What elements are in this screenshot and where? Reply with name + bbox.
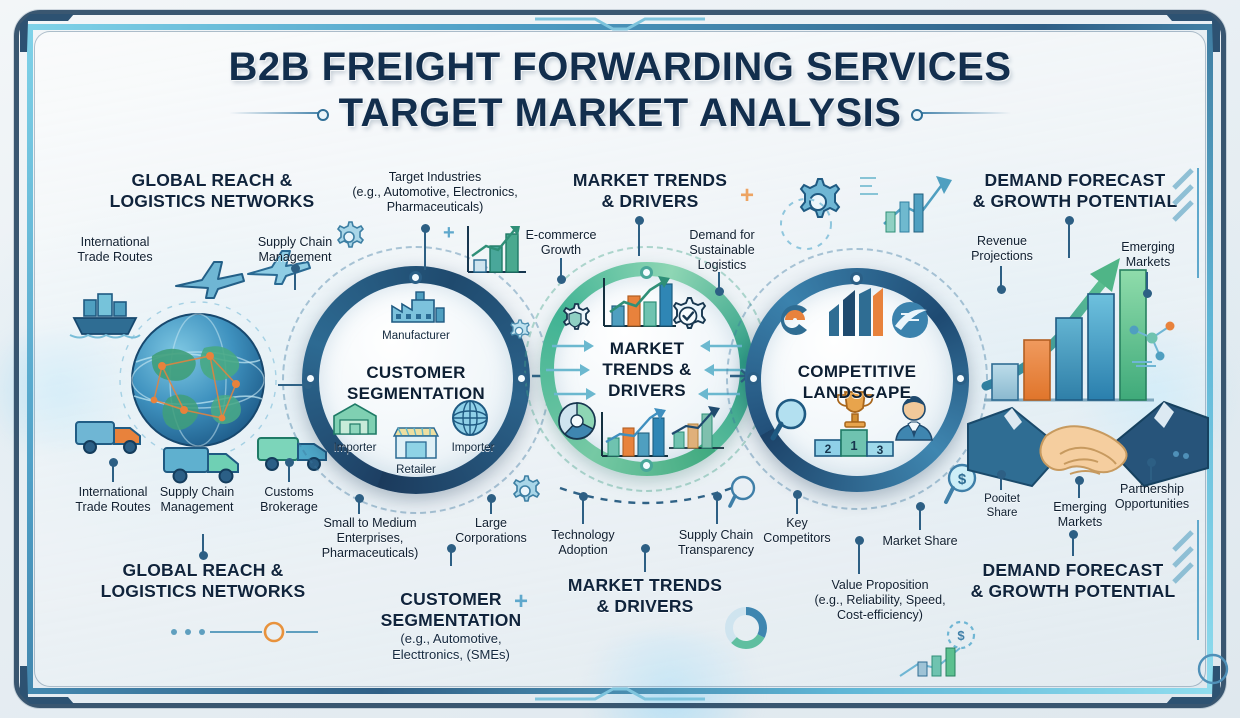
- ring3-node-left: [747, 372, 760, 385]
- svg-text:$: $: [957, 628, 965, 643]
- delivery-truck-icon-mid: [160, 440, 246, 486]
- cargo-ship-icon: [68, 286, 142, 340]
- label-target-industries: Target Industries (e.g., Automotive, Ele…: [336, 170, 534, 215]
- title-rule-left: [229, 112, 325, 114]
- plus-spark-icon-cs-top: +: [443, 222, 455, 245]
- stem-demand-forecast-bottom: [1072, 534, 1074, 556]
- stem-revenue-projections: [1000, 266, 1002, 290]
- ring3-node-top: [850, 272, 863, 285]
- stem-market-share: [919, 506, 921, 530]
- label-manufacturer: Manufacturer: [302, 330, 530, 342]
- label-emerging-markets-top: Emerging Markets: [1098, 240, 1198, 270]
- section-heading-global-reach-bottom: GLOBAL REACH & LOGISTICS NETWORKS: [78, 560, 328, 602]
- label-revenue-projections: Revenue Projections: [950, 234, 1054, 264]
- ring2-node-bottom: [640, 459, 653, 472]
- stem-customs-brokerage: [288, 462, 290, 482]
- demand-forecast-bar-chart: [978, 250, 1178, 450]
- section-heading-market-trends-top: MARKET TRENDS & DRIVERS: [530, 170, 770, 212]
- stem-key-competitors: [796, 494, 798, 514]
- stem-partnership-opportunities: [1150, 462, 1152, 480]
- label-supply-chain-management-bottom: Supply Chain Management: [142, 485, 252, 515]
- corner-accent-bottom-left: [16, 664, 78, 706]
- label-international-trade-routes-top: International Trade Routes: [60, 235, 170, 265]
- magnifier-icon-below-cl: [728, 474, 762, 510]
- label-technology-adoption: Technology Adoption: [530, 528, 636, 558]
- stem-df-heading-top: [1068, 220, 1070, 258]
- customer-segmentation-bottom-subtitle: (e.g., Automotive, Electtronics, (SMEs): [332, 631, 570, 663]
- label-small-to-medium-enterprises: Small to Medium Enterprises, Pharmaceuti…: [310, 516, 430, 561]
- title-block: B2B FREIGHT FORWARDING SERVICES TARGET M…: [0, 44, 1240, 136]
- circuit-trace-bottom-left: [170, 618, 320, 648]
- section-heading-market-trends-bottom: MARKET TRENDS & DRIVERS: [540, 575, 750, 617]
- infographic-canvas: B2B FREIGHT FORWARDING SERVICES TARGET M…: [0, 0, 1240, 718]
- page-title-line2: TARGET MARKET ANALYSIS: [339, 90, 902, 136]
- section-heading-demand-forecast-top: DEMAND FORECAST & GROWTH POTENTIAL: [950, 170, 1200, 212]
- glow-bottom-center: [560, 632, 780, 718]
- title-rule-right: [915, 112, 1011, 114]
- ring-customer-segmentation[interactable]: Manufacturer CUSTOMER SEGMENTATION Impor…: [302, 266, 530, 494]
- stem-smes: [358, 498, 360, 514]
- section-heading-global-reach-top: GLOBAL REACH & LOGISTICS NETWORKS: [92, 170, 332, 212]
- stem-market-trends-bottom: [644, 548, 646, 572]
- airplane-icon-upper: [170, 256, 250, 302]
- delivery-truck-icon-left: [72, 412, 148, 456]
- stem-value-proposition: [858, 540, 860, 574]
- stem-global-reach-bottom: [202, 534, 204, 556]
- gear-icon-cs-bottomleft: [508, 474, 542, 508]
- ring2-node-top: [640, 266, 653, 279]
- stem-target-industries: [424, 228, 426, 270]
- stem-trade-routes-bottom: [112, 462, 114, 482]
- compass-icon-bottom-right: [1196, 652, 1230, 686]
- dashed-arc-under-ring2: [556, 484, 736, 514]
- dashed-circle-icon-topright: [778, 196, 834, 252]
- stem-customer-segmentation-bottom: [450, 548, 452, 566]
- ring1-label: CUSTOMER SEGMENTATION: [347, 362, 485, 404]
- customer-segmentation-bottom-title: CUSTOMER SEGMENTATION: [381, 589, 522, 630]
- label-pooitet-share: Pooitet Share: [960, 492, 1044, 520]
- label-importer-left: Importer: [322, 442, 388, 454]
- label-key-competitors: Key Competitors: [748, 516, 846, 546]
- ring3-label: COMPETITIVE LANDSCAPE: [798, 361, 917, 403]
- ring-market-trends[interactable]: MARKET TRENDS & DRIVERS: [540, 262, 754, 476]
- ring1-node-top: [409, 271, 422, 284]
- stem-pooitet-share: [1000, 474, 1002, 490]
- frame-notch-bottom: [535, 686, 705, 702]
- corner-accent-bottom-right: [1162, 664, 1224, 706]
- label-demand-sustainable-logistics: Demand for Sustainable Logistics: [668, 228, 776, 273]
- label-retailer: Retailer: [378, 464, 454, 476]
- stem-technology-adoption: [582, 496, 584, 524]
- gear-icon-mt-top-right: [792, 176, 844, 228]
- stem-emerging-markets-bottom: [1078, 480, 1080, 498]
- globe-network-icon: [118, 300, 278, 460]
- plus-spark-icon-df: +: [1022, 468, 1035, 494]
- ring2-label: MARKET TRENDS & DRIVERS: [602, 338, 691, 401]
- ring1-node-left: [304, 372, 317, 385]
- label-value-proposition: Value Proposition (e.g., Reliability, Sp…: [780, 578, 980, 623]
- stem-large-corporations: [490, 498, 492, 514]
- label-customs-brokerage: Customs Brokerage: [238, 485, 340, 515]
- stem-mt-heading-top: [638, 220, 640, 256]
- mini-bar-chart-bottom-right: [898, 640, 978, 680]
- frame-notch-top: [535, 16, 705, 32]
- glow-right: [1060, 330, 1240, 460]
- ring3-node-right: [954, 372, 967, 385]
- handshake-icon: [968, 378, 1208, 498]
- glow-left: [0, 330, 150, 450]
- stem-ecommerce-growth: [560, 258, 562, 280]
- label-ecommerce-growth: E-commerce Growth: [508, 228, 614, 258]
- label-supply-chain-management-top: Supply Chain Management: [240, 235, 350, 265]
- network-nodes-icon-right: [1126, 316, 1180, 368]
- stem-supply-chain-transparency: [716, 496, 718, 524]
- stem-emerging-markets-top: [1146, 272, 1148, 294]
- label-partnership-opportunities: Partnership Opportunities: [1098, 482, 1206, 512]
- dollar-circle-icon-bottom: $: [944, 618, 978, 652]
- label-importer-right: Importer: [440, 442, 506, 454]
- ring1-node-right: [515, 372, 528, 385]
- section-heading-customer-segmentation-bottom: CUSTOMER SEGMENTATION (e.g., Automotive,…: [332, 568, 570, 684]
- label-market-share: Market Share: [866, 534, 974, 549]
- svg-text:$: $: [958, 471, 967, 488]
- stem-supply-chain-top: [294, 268, 296, 290]
- page-title-line2-row: TARGET MARKET ANALYSIS: [0, 90, 1240, 136]
- page-title-line1: B2B FREIGHT FORWARDING SERVICES: [0, 44, 1240, 90]
- ring-competitive-landscape[interactable]: COMPETITIVE LANDSCAPE 2: [745, 268, 969, 492]
